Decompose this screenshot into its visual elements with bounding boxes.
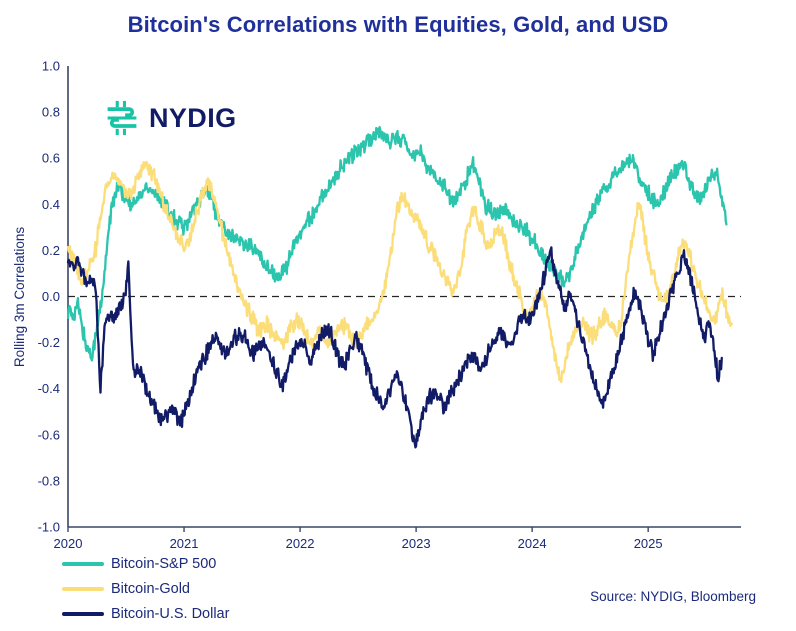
x-axis-tick-group: 202020212022202320242025	[54, 527, 663, 551]
y-axis-tick-label: 0.2	[42, 243, 60, 258]
source-note: Source: NYDIG, Bloomberg	[590, 589, 756, 604]
legend-swatch-usd	[62, 612, 104, 616]
series-group	[68, 127, 732, 447]
legend-label-sp500: Bitcoin-S&P 500	[111, 556, 216, 572]
x-axis-tick-label: 2023	[402, 536, 431, 551]
legend-item[interactable]: Bitcoin-S&P 500	[62, 551, 229, 576]
x-axis-tick-label: 2022	[286, 536, 315, 551]
series-line-bitcoin-s-p-500	[68, 127, 726, 360]
y-axis-title: Rolling 3m Correlations	[12, 227, 27, 368]
y-axis-tick-label: 1.0	[42, 59, 60, 74]
legend-swatch-sp500	[62, 562, 104, 566]
legend-swatch-gold	[62, 587, 104, 591]
y-axis-tick-label: 0.8	[42, 105, 60, 120]
nydig-mark-icon	[104, 100, 140, 136]
chart-card: Bitcoin's Correlations with Equities, Go…	[0, 0, 796, 631]
y-axis-tick-group: 1.00.80.60.40.20.0-0.2-0.4-0.6-0.8-1.0	[38, 59, 60, 535]
y-axis-tick-label: 0.6	[42, 151, 60, 166]
x-axis-tick-label: 2025	[634, 536, 663, 551]
y-axis-tick-label: -0.2	[38, 335, 60, 350]
legend-item[interactable]: Bitcoin-Gold	[62, 576, 229, 601]
legend-item[interactable]: Bitcoin-U.S. Dollar	[62, 601, 229, 626]
nydig-wordmark: NYDIG	[149, 105, 237, 132]
y-axis-tick-label: -0.4	[38, 381, 60, 396]
legend-label-usd: Bitcoin-U.S. Dollar	[111, 606, 229, 622]
series-line-bitcoin-u-s-dollar	[68, 247, 722, 447]
chart-legend: Bitcoin-S&P 500 Bitcoin-Gold Bitcoin-U.S…	[62, 551, 229, 626]
nydig-logo: NYDIG	[104, 100, 237, 136]
legend-label-gold: Bitcoin-Gold	[111, 581, 190, 597]
x-axis-tick-label: 2021	[170, 536, 199, 551]
x-axis-tick-label: 2024	[518, 536, 547, 551]
y-axis-tick-label: 0.0	[42, 289, 60, 304]
y-axis-tick-label: -0.6	[38, 427, 60, 442]
correlation-line-chart: 1.00.80.60.40.20.0-0.2-0.4-0.6-0.8-1.0 2…	[0, 0, 796, 631]
y-axis-tick-label: -1.0	[38, 520, 60, 535]
series-line-bitcoin-gold	[68, 162, 732, 382]
y-axis-tick-label: -0.8	[38, 473, 60, 488]
y-axis-tick-label: 0.4	[42, 197, 60, 212]
x-axis-tick-label: 2020	[54, 536, 83, 551]
